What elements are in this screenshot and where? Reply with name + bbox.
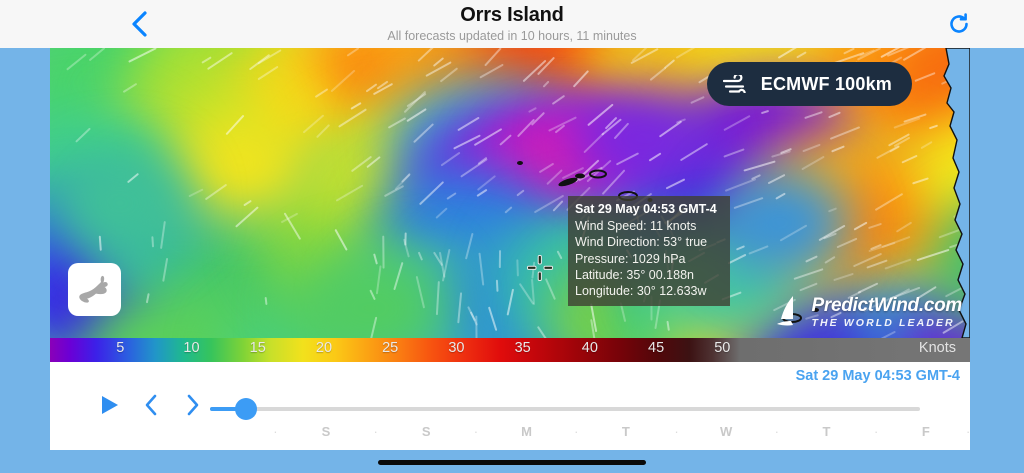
timeline-day-label: W (720, 424, 732, 439)
tooltip-row: Wind Direction: 53° true (575, 234, 723, 250)
update-status: All forecasts updated in 10 hours, 11 mi… (387, 30, 636, 43)
animation-speed-button[interactable] (68, 263, 121, 316)
tooltip-row: Longitude: 30° 12.633w (575, 283, 723, 299)
scale-tick: 35 (515, 340, 531, 356)
timeline-tick-dot: · (574, 424, 578, 439)
scale-tick: 25 (382, 340, 398, 356)
scale-tick: 5 (116, 340, 124, 356)
tooltip-row: Wind Speed: 11 knots (575, 218, 723, 234)
refresh-icon (947, 12, 971, 36)
model-selector-badge[interactable]: ECMWF 100km (707, 62, 912, 106)
slider-thumb[interactable] (235, 398, 257, 420)
timeline-tick-dot: · (374, 424, 378, 439)
scale-tick: 45 (648, 340, 664, 356)
refresh-button[interactable] (942, 9, 976, 39)
predictwind-logo[interactable]: PredictWind.com THE WORLD LEADER (776, 294, 962, 328)
logo-name: PredictWind.com (811, 296, 962, 315)
rabbit-icon (77, 275, 113, 305)
chevron-right-icon (186, 394, 200, 416)
scale-tick: 30 (448, 340, 464, 356)
timeline-panel: Sat 29 May 04:53 GMT-4 (50, 362, 970, 450)
tooltip-row: Pressure: 1029 hPa (575, 251, 723, 267)
playback-controls (92, 390, 210, 420)
title-block: Orrs Island All forecasts updated in 10 … (387, 5, 636, 43)
page-title: Orrs Island (387, 5, 636, 25)
timeline-day-marks: ·S·S·M·T·W·T·F· (50, 424, 970, 446)
timeline-day-label: S (322, 424, 331, 439)
weather-app-screen: Orrs Island All forecasts updated in 10 … (0, 0, 1024, 473)
scale-tick: 20 (316, 340, 332, 356)
timeline-day-label: M (521, 424, 532, 439)
back-button[interactable] (122, 9, 156, 39)
timeline-tick-dot: · (775, 424, 779, 439)
crosshair-icon (527, 255, 553, 281)
scale-tick: 40 (582, 340, 598, 356)
logo-text: PredictWind.com THE WORLD LEADER (811, 296, 962, 329)
play-icon (100, 395, 119, 415)
previous-step-button[interactable] (134, 390, 168, 420)
timeline-tick-dot: · (474, 424, 478, 439)
scale-tick: 10 (183, 340, 199, 356)
timeline-day-label: S (422, 424, 431, 439)
logo-tagline: THE WORLD LEADER (811, 318, 962, 329)
scale-tick: 15 (250, 340, 266, 356)
home-indicator (378, 460, 646, 465)
timeline-day-label: F (922, 424, 930, 439)
timeline-tick-dot: · (966, 424, 970, 439)
wind-map[interactable]: ECMWF 100km Sat 29 May 04:53 GMT-4 Wind … (50, 48, 970, 338)
timeline-day-label: T (622, 424, 630, 439)
sail-icon (776, 294, 806, 328)
next-step-button[interactable] (176, 390, 210, 420)
timeline-date-label: Sat 29 May 04:53 GMT-4 (796, 368, 960, 384)
tooltip-title: Sat 29 May 04:53 GMT-4 (575, 201, 723, 217)
wind-speed-color-scale[interactable]: Knots 5101520253035404550 (50, 338, 970, 362)
model-badge-label: ECMWF 100km (761, 74, 892, 95)
scale-unit-label: Knots (919, 340, 956, 356)
timeline-tick-dot: · (874, 424, 878, 439)
chevron-left-icon (144, 394, 158, 416)
play-button[interactable] (92, 390, 126, 420)
timeline-tick-dot: · (273, 424, 277, 439)
forecast-tooltip: Sat 29 May 04:53 GMT-4 Wind Speed: 11 kn… (568, 196, 730, 306)
time-slider[interactable] (210, 398, 920, 420)
timeline-tick-dot: · (674, 424, 678, 439)
scale-tick: 50 (714, 340, 730, 356)
wind-icon (723, 75, 749, 93)
slider-track (210, 407, 920, 411)
tooltip-row: Latitude: 35° 00.188n (575, 267, 723, 283)
navigation-bar: Orrs Island All forecasts updated in 10 … (0, 0, 1024, 48)
timeline-day-label: T (822, 424, 830, 439)
chevron-left-icon (131, 11, 147, 37)
